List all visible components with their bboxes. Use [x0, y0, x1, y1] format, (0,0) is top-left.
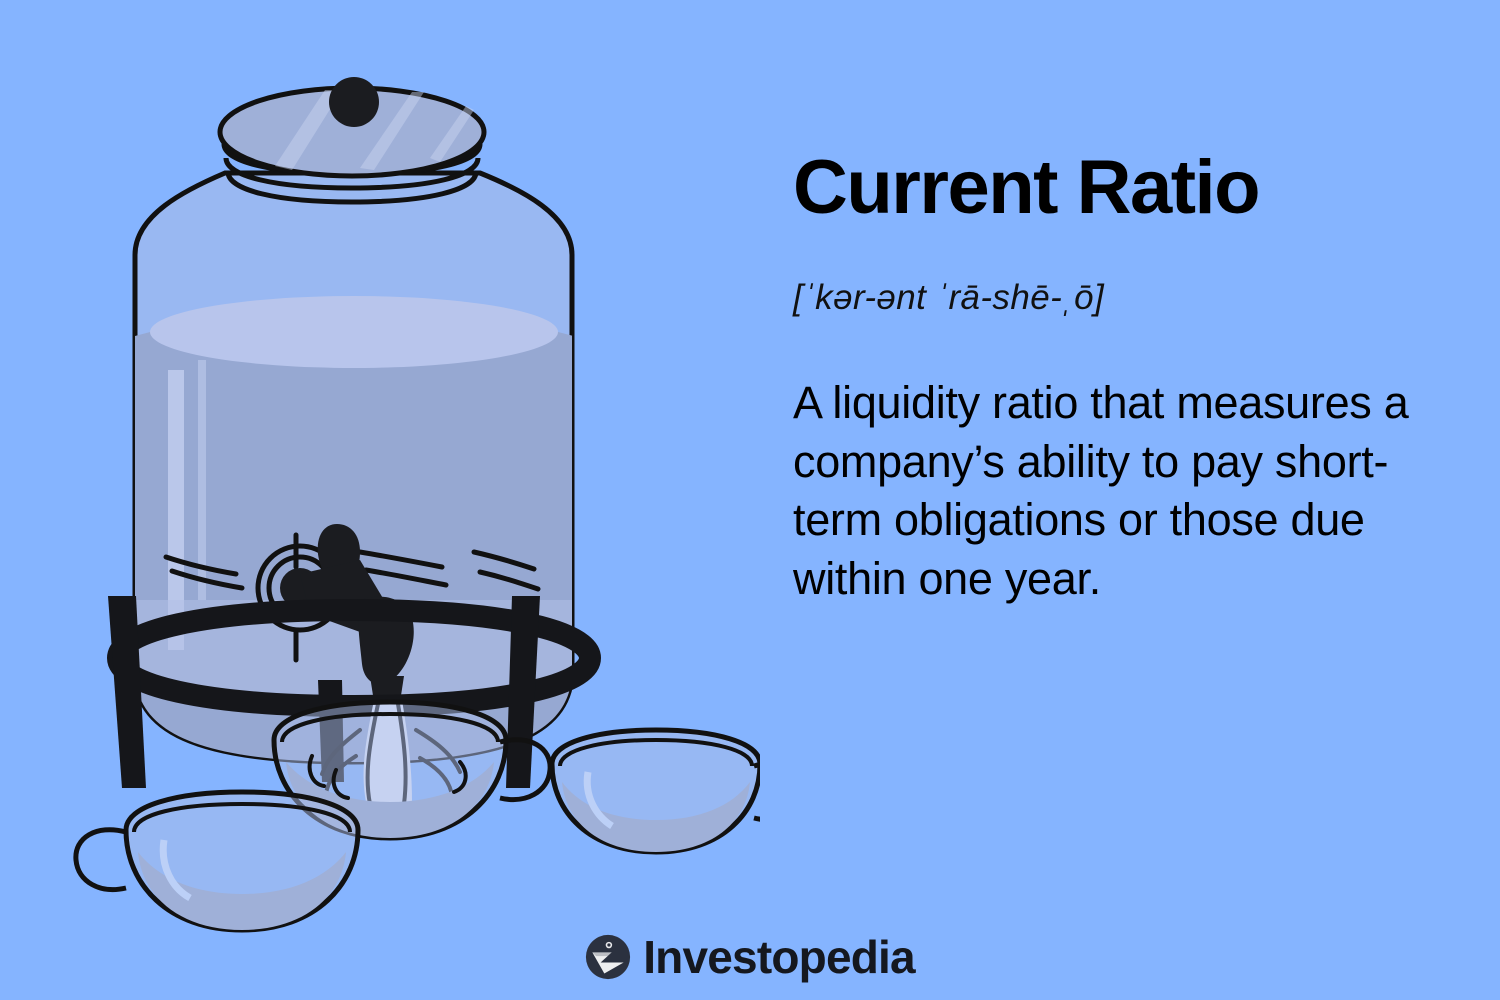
investopedia-badge-icon — [585, 934, 631, 980]
pronunciation-text: [ˈkər-ənt ˈrā-shē-ˌō] — [793, 226, 1443, 318]
term-text-column: Current Ratio [ˈkər-ənt ˈrā-shē-ˌō] A li… — [793, 150, 1443, 608]
page-canvas: Current Ratio [ˈkər-ənt ˈrā-shē-ˌō] A li… — [0, 0, 1500, 1000]
page-title: Current Ratio — [793, 150, 1443, 226]
beverage-dispenser-illustration — [60, 40, 760, 940]
cup-right — [552, 730, 760, 852]
definition-text: A liquidity ratio that measures a compan… — [793, 318, 1413, 608]
investopedia-logo: Investopedia — [0, 934, 1500, 980]
lid-knob — [329, 77, 379, 127]
brand-wordmark: Investopedia — [643, 934, 915, 980]
cup-front-left — [76, 792, 358, 930]
jar-lid — [220, 77, 484, 176]
